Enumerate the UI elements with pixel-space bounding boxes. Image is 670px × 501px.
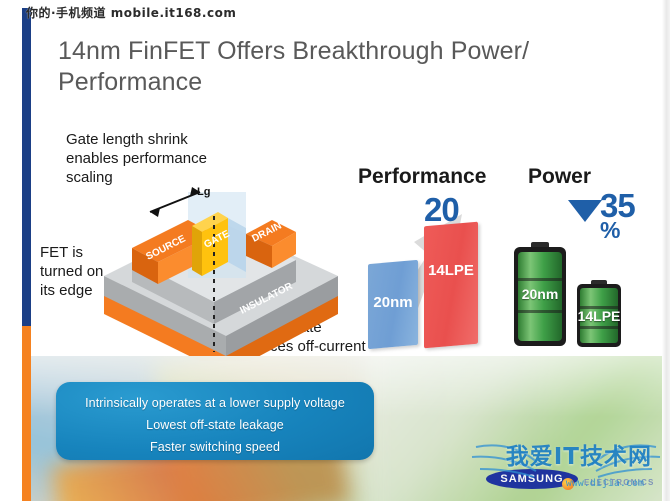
bar-label-20nm: 20nm (368, 294, 418, 311)
power-delta: 35 % (600, 192, 635, 239)
benefit-line-2: Lowest off-state leakage (56, 418, 374, 432)
lg-label: Lg (197, 186, 210, 198)
site-watermark-cn: 我爱IT技术网 (506, 437, 652, 471)
accent-stripe-blue (22, 8, 31, 326)
site-watermark-url: www.dijia.com (566, 478, 644, 489)
bar-performance-20nm: 20nm (368, 260, 418, 349)
left-margin (0, 0, 22, 501)
accent-stripe-orange (22, 326, 31, 501)
bar-label-14lpe: 14LPE (424, 262, 478, 279)
battery-label-14lpe: 14LPE (575, 308, 623, 324)
benefits-callout: Intrinsically operates at a lower supply… (56, 382, 374, 460)
watermark-top: 你的·手机频道 mobile.it168.com (26, 4, 236, 21)
chart-title-performance: Performance (358, 165, 486, 189)
bar-performance-14lpe: 14LPE (424, 222, 478, 349)
annotation-gate-shrink: Gate length shrink enables performance s… (66, 130, 226, 187)
battery-label-20nm: 20nm (512, 286, 568, 302)
chart-title-power: Power (528, 165, 591, 189)
slide-canvas: 你的·手机频道 mobile.it168.com 14nm FinFET Off… (0, 0, 670, 501)
decrease-triangle-icon (568, 200, 602, 222)
battery-20nm: 20nm (512, 242, 568, 348)
finfet-3d-diagram: ​ SOURCE GATE DRAIN INSULATOR (96, 186, 346, 361)
benefit-line-3: Faster switching speed (56, 440, 374, 454)
page-title: 14nm FinFET Offers Breakthrough Power/ P… (58, 36, 618, 98)
battery-14lpe: 14LPE (575, 280, 623, 348)
power-delta-unit: % (600, 222, 635, 239)
benefit-line-1: Intrinsically operates at a lower supply… (56, 396, 374, 410)
right-page-edge (662, 0, 670, 501)
